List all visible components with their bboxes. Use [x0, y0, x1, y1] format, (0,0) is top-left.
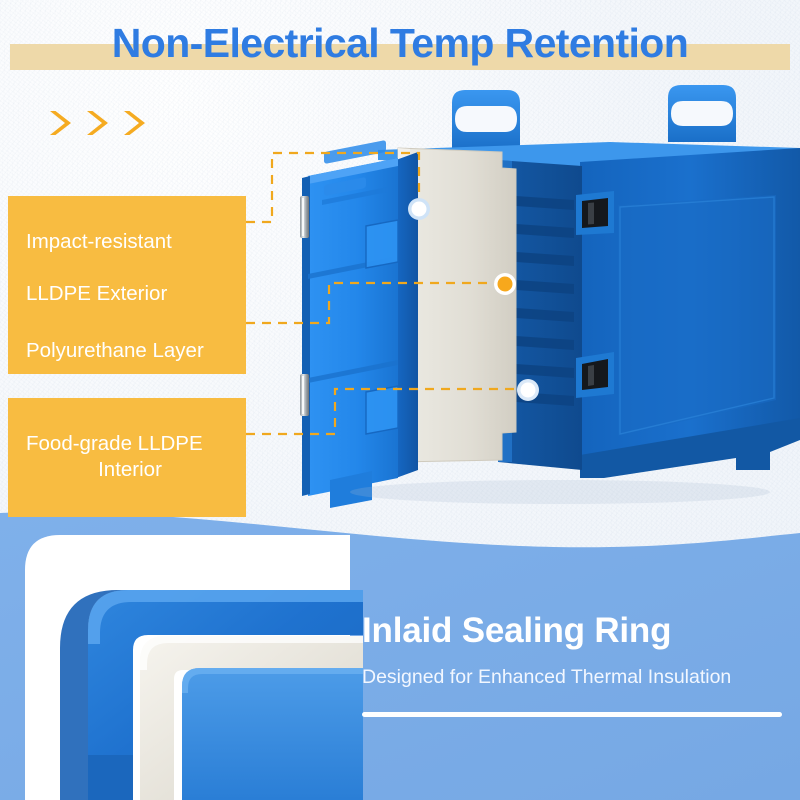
page-title-block: Non-Electrical Temp Retention	[0, 14, 800, 76]
bottom-heading: Inlaid Sealing Ring	[362, 610, 792, 652]
page-title: Non-Electrical Temp Retention	[0, 14, 800, 72]
carrier-handle	[452, 90, 520, 151]
infographic-canvas: Non-Electrical Temp Retention	[0, 0, 800, 800]
carrier-door	[302, 140, 418, 508]
carrier-hinge	[300, 374, 309, 416]
bottom-subheading: Designed for Enhanced Thermal Insulation	[362, 665, 792, 690]
callout-label-line1: Food-grade LLDPE	[26, 432, 203, 455]
callout-label-line1: Impact-resistant	[26, 230, 172, 253]
callout-label-interior[interactable]: Food-grade LLDPE Interior	[8, 398, 246, 517]
callout-label-line1: Polyurethane Layer	[26, 339, 204, 362]
chevron-right-icon	[83, 108, 109, 138]
chevron-right-icon	[46, 108, 72, 138]
carrier-latch	[576, 191, 614, 235]
carrier-latch	[576, 352, 614, 398]
carrier-hinge	[300, 196, 309, 238]
callout-label-polyurethane[interactable]: Polyurethane Layer	[8, 303, 246, 374]
chevron-group	[46, 108, 146, 138]
bottom-divider-rule	[362, 712, 782, 717]
callout-label-exterior[interactable]: Impact-resistant LLDPE Exterior	[8, 196, 246, 315]
bottom-text-block: Inlaid Sealing Ring Designed for Enhance…	[362, 610, 792, 717]
callout-label-line2: Interior	[26, 457, 234, 483]
carrier-handle	[668, 85, 736, 142]
chevron-right-icon	[120, 108, 146, 138]
callout-label-line2: LLDPE Exterior	[26, 282, 167, 305]
sealing-ring-closeup	[60, 590, 363, 800]
